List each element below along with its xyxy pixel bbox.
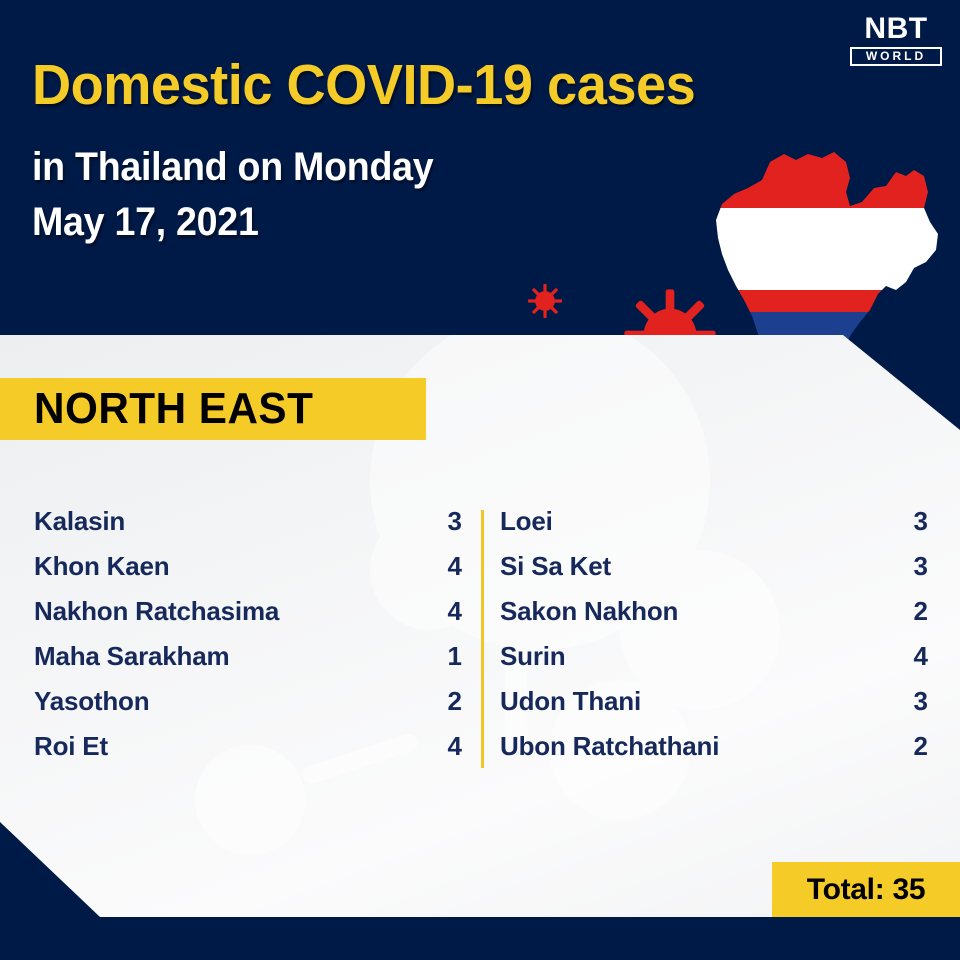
province-name: Loei (500, 506, 553, 537)
table-row: Si Sa Ket 3 (500, 551, 928, 596)
province-name: Roi Et (34, 731, 108, 762)
total-label: Total: 35 (807, 873, 925, 907)
province-list-right: Loei 3 Si Sa Ket 3 Sakon Nakhon 2 Surin … (500, 506, 928, 776)
province-count: 3 (914, 506, 928, 537)
coronavirus-particle-icon (527, 283, 563, 324)
table-row: Roi Et 4 (34, 731, 462, 776)
province-name: Si Sa Ket (500, 551, 611, 582)
nbt-world-logo: NBT WORLD (850, 14, 942, 66)
logo-primary-text: NBT (850, 14, 942, 44)
table-row: Maha Sarakham 1 (34, 641, 462, 686)
province-name: Yasothon (34, 686, 149, 717)
region-label: NORTH EAST (34, 384, 313, 434)
province-name: Surin (500, 641, 565, 672)
subtitle-line-2: May 17, 2021 (32, 195, 433, 250)
province-count: 1 (448, 641, 462, 672)
province-name: Udon Thani (500, 686, 641, 717)
table-row: Udon Thani 3 (500, 686, 928, 731)
table-row: Loei 3 (500, 506, 928, 551)
province-count: 4 (448, 551, 462, 582)
province-name: Khon Kaen (34, 551, 169, 582)
province-name: Maha Sarakham (34, 641, 229, 672)
province-name: Nakhon Ratchasima (34, 596, 279, 627)
province-name: Kalasin (34, 506, 125, 537)
table-row: Kalasin 3 (34, 506, 462, 551)
province-count: 4 (448, 596, 462, 627)
total-badge: Total: 35 (772, 862, 960, 917)
table-row: Sakon Nakhon 2 (500, 596, 928, 641)
province-count: 3 (914, 686, 928, 717)
table-row: Khon Kaen 4 (34, 551, 462, 596)
table-row: Ubon Ratchathani 2 (500, 731, 928, 776)
region-banner: NORTH EAST (0, 378, 426, 440)
province-count: 2 (914, 731, 928, 762)
table-row: Nakhon Ratchasima 4 (34, 596, 462, 641)
province-count: 2 (448, 686, 462, 717)
province-name: Sakon Nakhon (500, 596, 678, 627)
province-count: 4 (448, 731, 462, 762)
page-subtitle: in Thailand on Monday May 17, 2021 (32, 140, 433, 250)
province-count: 4 (914, 641, 928, 672)
province-list-left: Kalasin 3 Khon Kaen 4 Nakhon Ratchasima … (34, 506, 462, 776)
province-count: 3 (914, 551, 928, 582)
province-count: 2 (914, 596, 928, 627)
table-row: Surin 4 (500, 641, 928, 686)
province-count: 3 (448, 506, 462, 537)
logo-secondary-text: WORLD (850, 47, 942, 66)
infographic-root: NBT WORLD Domestic COVID-19 cases in Tha… (0, 0, 960, 960)
column-divider (481, 510, 484, 768)
subtitle-line-1: in Thailand on Monday (32, 140, 433, 195)
province-name: Ubon Ratchathani (500, 731, 719, 762)
page-title: Domestic COVID-19 cases (32, 52, 695, 118)
table-row: Yasothon 2 (34, 686, 462, 731)
